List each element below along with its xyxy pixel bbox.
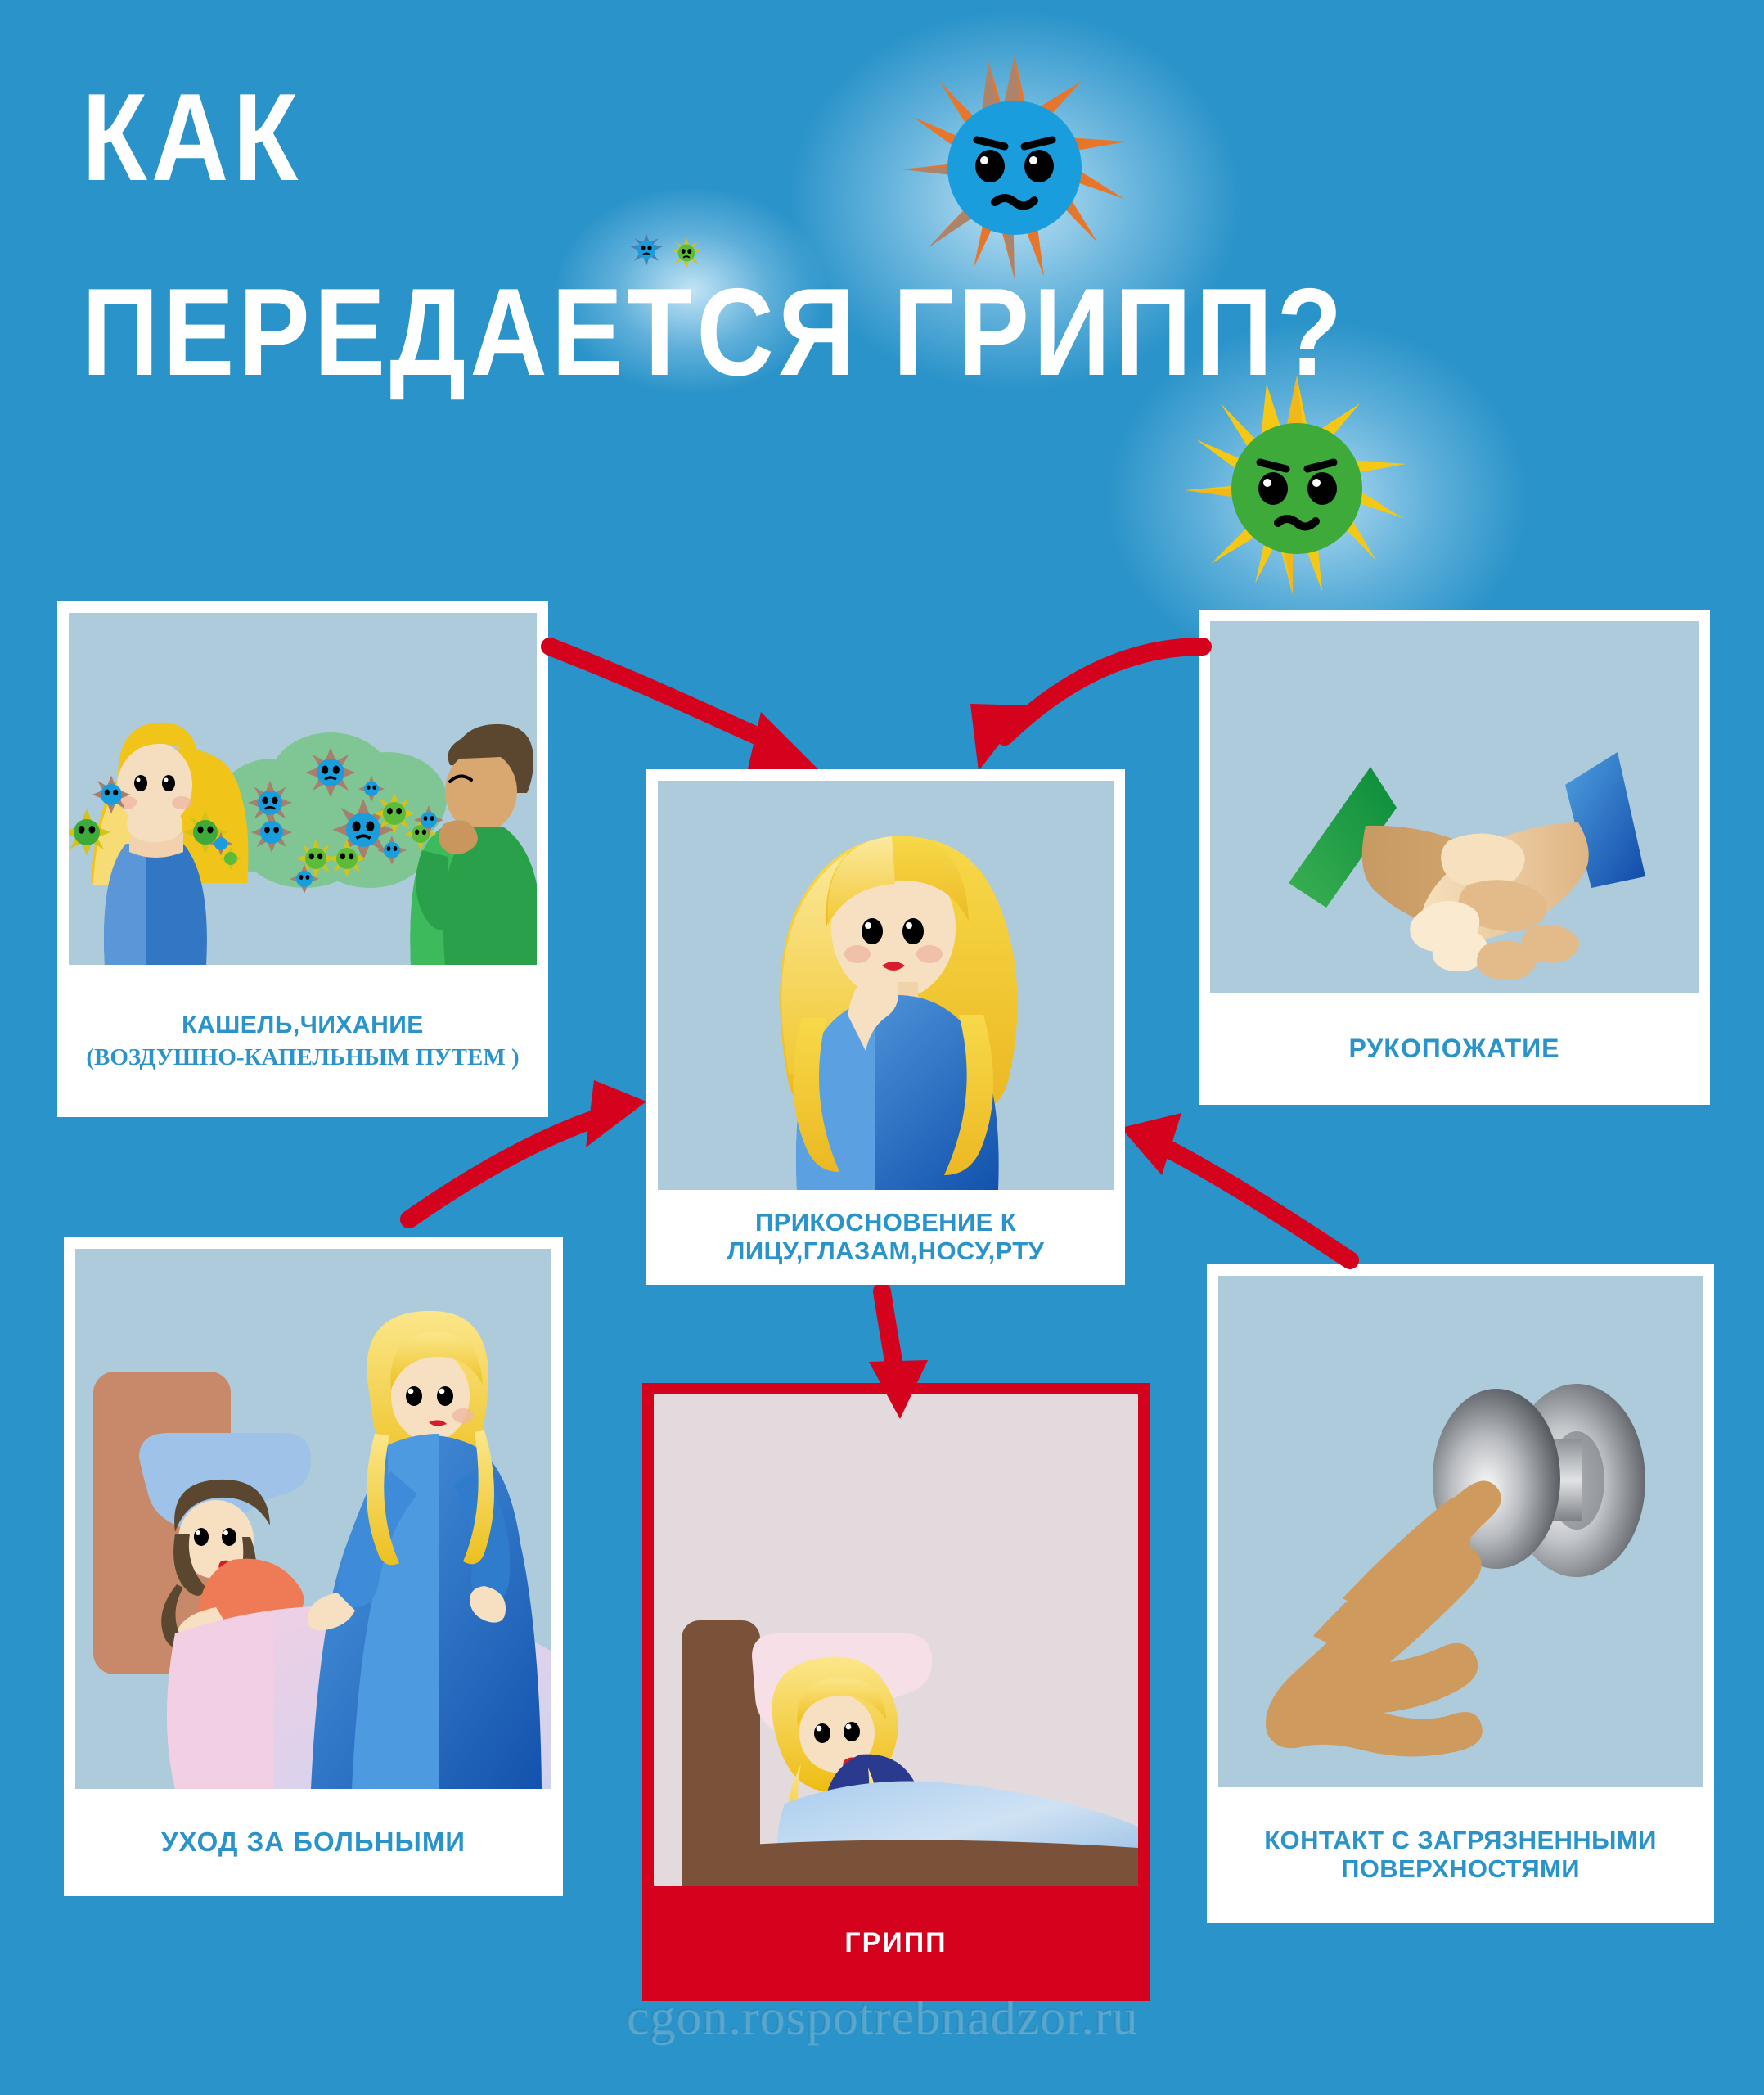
illustration-caring-for-sick	[75, 1249, 551, 1789]
illustration-handshake	[1210, 621, 1699, 993]
illustration-cough-sneeze	[69, 613, 537, 965]
arrow-cough-to-touch	[550, 647, 818, 776]
caption-line-2: ПОВЕРХНОСТЯМИ	[1341, 1855, 1580, 1884]
card-caring-for-sick[interactable]: УХОД ЗА БОЛЬНЫМИ	[64, 1237, 563, 1896]
caption-line-1: КОНТАКТ С ЗАГРЯЗНЕННЫМИ	[1264, 1827, 1657, 1855]
caption-line-1: ПРИКОСНОВЕНИЕ К	[755, 1209, 1016, 1237]
illustration-sick-girl-in-bed	[654, 1394, 1138, 1885]
card-cough-sneeze[interactable]: КАШЕЛЬ,ЧИХАНИЕ (ВОЗДУШНО-КАПЕЛЬНЫМ ПУТЕМ…	[57, 601, 548, 1117]
illustration-face-touch	[658, 781, 1114, 1190]
caption-main: КАШЕЛЬ,ЧИХАНИЕ	[182, 1011, 424, 1039]
title-line-2: ПЕРЕДАЕТСЯ ГРИПП?	[82, 270, 1347, 394]
caption-handshake: РУКОПОЖАТИЕ	[1210, 993, 1699, 1105]
angry-blue-virus-icon	[892, 45, 1137, 282]
arrow-handshake-to-touch	[970, 647, 1203, 771]
title-line-1: КАК	[82, 75, 302, 200]
card-face-touch[interactable]: ПРИКОСНОВЕНИЕ К ЛИЦУ,ГЛАЗАМ,НОСУ,РТУ	[646, 769, 1125, 1285]
caption-line-2: ЛИЦУ,ГЛАЗАМ,НОСУ,РТУ	[727, 1237, 1045, 1266]
illustration-doorknob	[1218, 1276, 1703, 1787]
arrow-surface-to-touch	[1121, 1113, 1350, 1260]
caption-face-touch: ПРИКОСНОВЕНИЕ К ЛИЦУ,ГЛАЗАМ,НОСУ,РТУ	[658, 1190, 1114, 1285]
card-handshake[interactable]: РУКОПОЖАТИЕ	[1199, 610, 1710, 1105]
small-green-virus-icon	[671, 237, 702, 268]
angry-green-virus-icon	[1178, 372, 1415, 597]
caption-sub: (ВОЗДУШНО-КАПЕЛЬНЫМ ПУТЕМ )	[86, 1044, 519, 1070]
card-flu-result[interactable]: ГРИПП	[642, 1383, 1150, 2001]
caption-caring-for-sick: УХОД ЗА БОЛЬНЫМИ	[75, 1789, 551, 1896]
caption-cough-sneeze: КАШЕЛЬ,ЧИХАНИЕ (ВОЗДУШНО-КАПЕЛЬНЫМ ПУТЕМ…	[69, 965, 537, 1117]
caption-contaminated-surfaces: КОНТАКТ С ЗАГРЯЗНЕННЫМИ ПОВЕРХНОСТЯМИ	[1218, 1787, 1703, 1923]
card-contaminated-surfaces[interactable]: КОНТАКТ С ЗАГРЯЗНЕННЫМИ ПОВЕРХНОСТЯМИ	[1207, 1264, 1714, 1923]
caption-flu: ГРИПП	[654, 1885, 1138, 2001]
small-blue-virus-icon	[630, 233, 663, 266]
